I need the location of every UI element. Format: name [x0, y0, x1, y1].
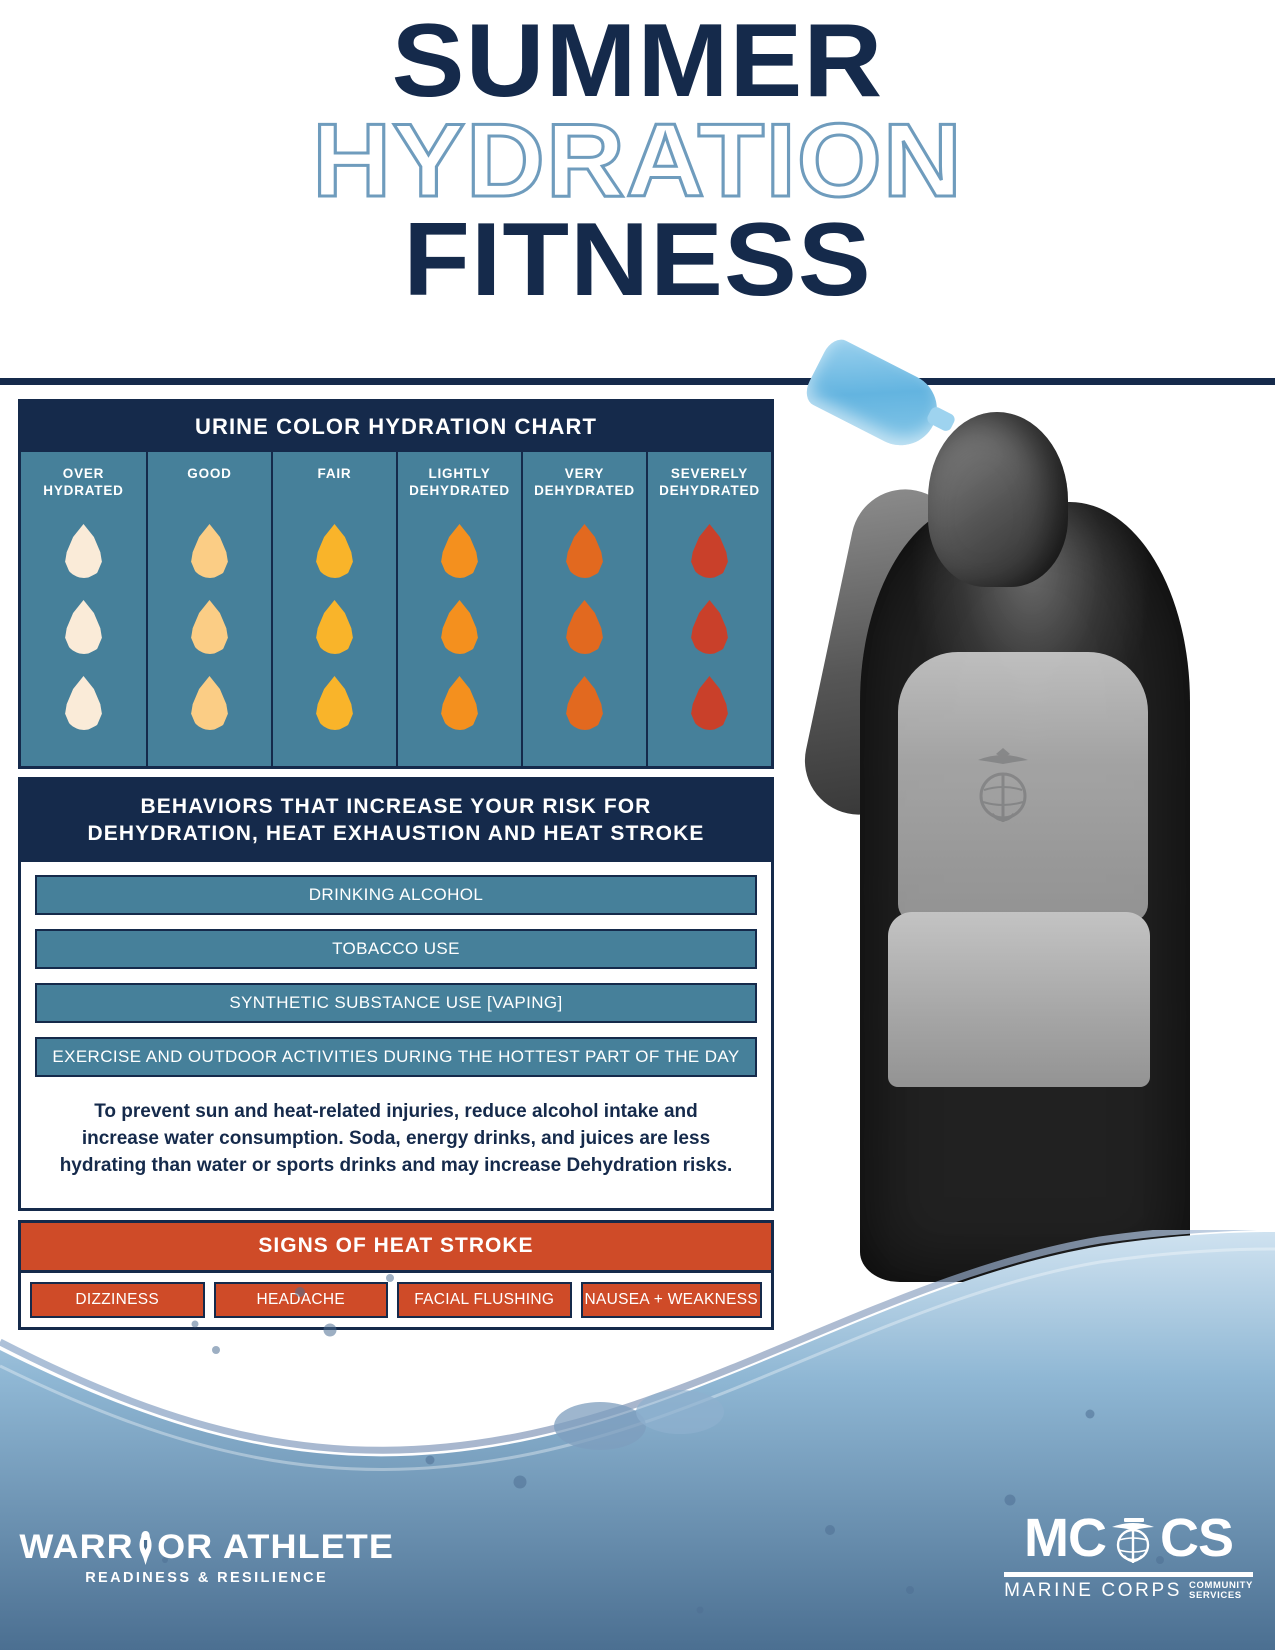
urine-chart-heading: URINE COLOR HYDRATION CHART: [21, 402, 771, 452]
water-bottle-icon: [801, 334, 950, 457]
spartan-helmet-icon: [135, 1531, 156, 1565]
urine-color-drop-icon: [690, 524, 730, 578]
behaviors-heading: BEHAVIORS THAT INCREASE YOUR RISK FOR DE…: [21, 780, 771, 862]
urine-color-drop-icon: [315, 524, 355, 578]
urine-chart-column-label: OVER HYDRATED: [25, 466, 142, 504]
mccs-letters-left: MC: [1024, 1507, 1106, 1569]
mccs-community-services-text: COMMUNITY SERVICES: [1189, 1581, 1253, 1602]
urine-color-drop-icon: [690, 676, 730, 730]
title-line-summer: SUMMER: [0, 14, 1275, 110]
mccs-divider-rule: [1004, 1572, 1253, 1577]
urine-chart-column-label: FAIR: [318, 466, 352, 504]
urine-color-drop-icon: [64, 524, 104, 578]
urine-color-chart-card: URINE COLOR HYDRATION CHART OVER HYDRATE…: [18, 399, 774, 769]
behaviors-card: BEHAVIORS THAT INCREASE YOUR RISK FOR DE…: [18, 777, 774, 1211]
page-title: SUMMER HYDRATION FITNESS: [0, 14, 1275, 309]
urine-color-drop-icon: [64, 676, 104, 730]
warrior-athlete-logo: WARR OR ATHLETE READINESS & RESILIENCE: [30, 1528, 383, 1586]
urine-chart-column: OVER HYDRATED: [21, 452, 146, 766]
behavior-risk-bar: DRINKING ALCOHOL: [35, 875, 757, 915]
urine-color-drop-icon: [190, 524, 230, 578]
urine-color-drop-icon: [690, 600, 730, 654]
behavior-risk-bar: EXERCISE AND OUTDOOR ACTIVITIES DURING T…: [35, 1037, 757, 1077]
behaviors-heading-line-2: DEHYDRATION, HEAT EXHAUSTION AND HEAT ST…: [37, 820, 755, 847]
warrior-athlete-part-2: OR ATHLETE: [157, 1528, 394, 1567]
urine-chart-grid: OVER HYDRATEDGOODFAIRLIGHTLY DEHYDRATEDV…: [21, 452, 771, 766]
athlete-head: [928, 412, 1068, 587]
behavior-risk-bar: TOBACCO USE: [35, 929, 757, 969]
urine-color-drop-icon: [315, 600, 355, 654]
mccs-letters-right: CS: [1160, 1507, 1233, 1569]
behaviors-list: DRINKING ALCOHOLTOBACCO USESYNTHETIC SUB…: [35, 875, 757, 1077]
urine-color-drop-icon: [565, 600, 605, 654]
behaviors-body: DRINKING ALCOHOLTOBACCO USESYNTHETIC SUB…: [21, 862, 771, 1208]
urine-chart-column: FAIR: [271, 452, 396, 766]
urine-color-drop-icon: [315, 676, 355, 730]
urine-chart-column: GOOD: [146, 452, 271, 766]
urine-color-drop-icon: [440, 524, 480, 578]
urine-chart-column: SEVERELY DEHYDRATED: [646, 452, 771, 766]
behaviors-heading-line-1: BEHAVIORS THAT INCREASE YOUR RISK FOR: [37, 793, 755, 820]
athlete-shorts: [888, 912, 1150, 1087]
behaviors-note: To prevent sun and heat-related injuries…: [35, 1077, 757, 1192]
mccs-wordmark: MC CS: [1004, 1507, 1253, 1569]
urine-chart-column: LIGHTLY DEHYDRATED: [396, 452, 521, 766]
urine-color-drop-icon: [190, 676, 230, 730]
title-line-hydration: HYDRATION: [0, 114, 1275, 210]
urine-color-drop-icon: [190, 600, 230, 654]
urine-color-drop-icon: [565, 676, 605, 730]
urine-chart-column-label: LIGHTLY DEHYDRATED: [402, 466, 517, 504]
warrior-athlete-wordmark: WARR OR ATHLETE: [19, 1528, 394, 1567]
eagle-globe-anchor-icon: [966, 744, 1040, 828]
warrior-athlete-part-1: WARR: [19, 1528, 133, 1567]
mccs-subtitle: MARINE CORPS COMMUNITY SERVICES: [1004, 1580, 1253, 1602]
urine-color-drop-icon: [440, 600, 480, 654]
urine-color-drop-icon: [565, 524, 605, 578]
behavior-risk-bar: SYNTHETIC SUBSTANCE USE [VAPING]: [35, 983, 757, 1023]
urine-color-drop-icon: [64, 600, 104, 654]
warrior-athlete-tagline: READINESS & RESILIENCE: [30, 1570, 383, 1586]
urine-chart-column: VERY DEHYDRATED: [521, 452, 646, 766]
mccs-eagle-globe-anchor-icon: [1106, 1511, 1160, 1565]
mccs-services-text: SERVICES: [1189, 1590, 1242, 1601]
mccs-marine-corps-text: MARINE CORPS: [1004, 1580, 1182, 1602]
content-column: URINE COLOR HYDRATION CHART OVER HYDRATE…: [18, 399, 774, 1330]
athlete-photo: [770, 352, 1270, 1282]
urine-chart-column-label: SEVERELY DEHYDRATED: [652, 466, 767, 504]
mccs-logo: MC CS MARINE CORPS COMMUNITY SERVICES: [1004, 1507, 1253, 1602]
title-line-fitness: FITNESS: [0, 213, 1275, 309]
urine-chart-column-label: GOOD: [187, 466, 231, 504]
urine-color-drop-icon: [440, 676, 480, 730]
urine-chart-column-label: VERY DEHYDRATED: [527, 466, 642, 504]
